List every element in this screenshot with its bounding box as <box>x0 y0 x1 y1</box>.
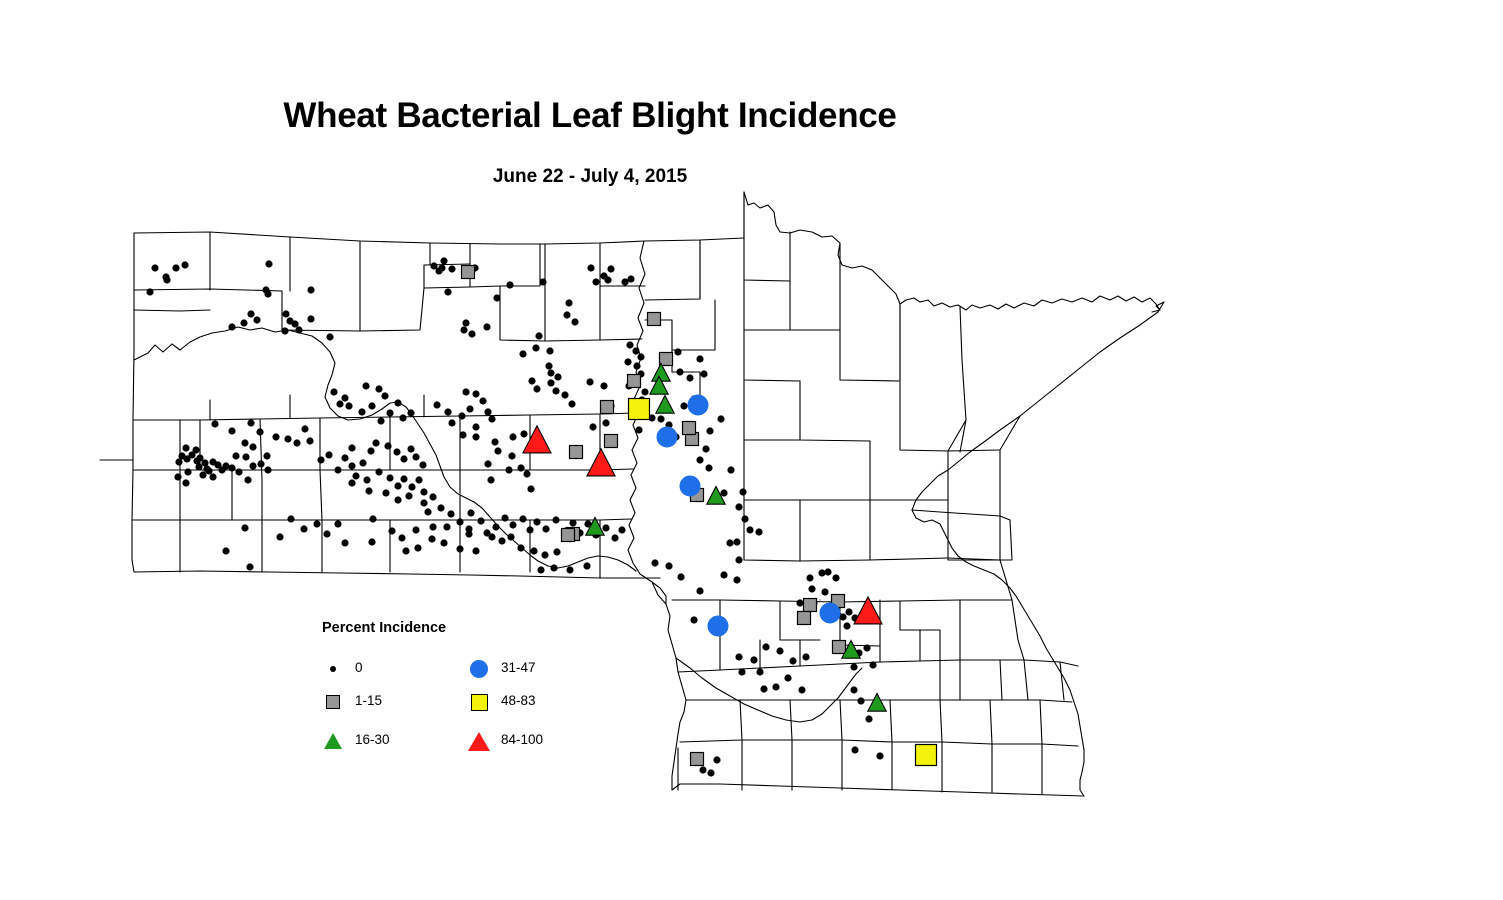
incidence-marker-0[interactable] <box>563 311 570 318</box>
incidence-marker-0[interactable] <box>517 464 524 471</box>
incidence-marker-1-15[interactable] <box>601 401 614 414</box>
incidence-marker-0[interactable] <box>720 489 727 496</box>
incidence-marker-0[interactable] <box>228 323 235 330</box>
incidence-marker-0[interactable] <box>182 479 189 486</box>
incidence-marker-0[interactable] <box>541 551 548 558</box>
incidence-marker-0[interactable] <box>735 556 742 563</box>
incidence-marker-0[interactable] <box>377 417 384 424</box>
incidence-marker-0[interactable] <box>232 452 239 459</box>
incidence-marker-0[interactable] <box>444 408 451 415</box>
incidence-marker-0[interactable] <box>674 348 681 355</box>
incidence-marker-0[interactable] <box>857 697 864 704</box>
incidence-marker-84-100[interactable] <box>523 426 551 453</box>
incidence-marker-0[interactable] <box>323 530 330 537</box>
incidence-marker-0[interactable] <box>501 514 508 521</box>
incidence-marker-0[interactable] <box>798 686 805 693</box>
incidence-marker-0[interactable] <box>796 599 803 606</box>
incidence-marker-0[interactable] <box>552 387 559 394</box>
incidence-marker-0[interactable] <box>494 447 501 454</box>
incidence-marker-0[interactable] <box>326 333 333 340</box>
incidence-marker-0[interactable] <box>447 510 454 517</box>
incidence-marker-0[interactable] <box>420 499 427 506</box>
incidence-marker-0[interactable] <box>565 299 572 306</box>
incidence-marker-1-15[interactable] <box>462 266 475 279</box>
incidence-marker-0[interactable] <box>264 466 271 473</box>
incidence-marker-0[interactable] <box>561 391 568 398</box>
incidence-marker-0[interactable] <box>756 668 763 675</box>
incidence-marker-0[interactable] <box>519 350 526 357</box>
incidence-marker-0[interactable] <box>358 408 365 415</box>
incidence-marker-0[interactable] <box>733 576 740 583</box>
incidence-marker-0[interactable] <box>287 515 294 522</box>
incidence-marker-0[interactable] <box>507 533 514 540</box>
incidence-marker-0[interactable] <box>334 520 341 527</box>
incidence-marker-0[interactable] <box>472 433 479 440</box>
incidence-marker-0[interactable] <box>402 547 409 554</box>
incidence-marker-0[interactable] <box>850 686 857 693</box>
incidence-marker-0[interactable] <box>272 433 279 440</box>
incidence-marker-0[interactable] <box>400 475 407 482</box>
incidence-marker-0[interactable] <box>341 539 348 546</box>
incidence-marker-1-15[interactable] <box>691 753 704 766</box>
incidence-marker-0[interactable] <box>300 525 307 532</box>
incidence-marker-0[interactable] <box>440 257 447 264</box>
incidence-marker-0[interactable] <box>462 319 469 326</box>
incidence-marker-0[interactable] <box>348 462 355 469</box>
incidence-marker-0[interactable] <box>472 547 479 554</box>
incidence-marker-0[interactable] <box>369 515 376 522</box>
incidence-marker-0[interactable] <box>509 521 516 528</box>
incidence-marker-0[interactable] <box>282 310 289 317</box>
incidence-marker-0[interactable] <box>741 515 748 522</box>
incidence-marker-0[interactable] <box>172 264 179 271</box>
incidence-marker-0[interactable] <box>477 517 484 524</box>
incidence-marker-0[interactable] <box>458 412 465 419</box>
incidence-marker-0[interactable] <box>456 518 463 525</box>
incidence-marker-0[interactable] <box>408 483 415 490</box>
incidence-marker-0[interactable] <box>592 278 599 285</box>
incidence-marker-0[interactable] <box>405 492 412 499</box>
incidence-marker-0[interactable] <box>181 261 188 268</box>
incidence-marker-0[interactable] <box>249 462 256 469</box>
incidence-marker-0[interactable] <box>532 344 539 351</box>
incidence-marker-31-47[interactable] <box>820 603 840 623</box>
incidence-marker-0[interactable] <box>492 523 499 530</box>
incidence-marker-48-83[interactable] <box>916 745 937 766</box>
incidence-marker-1-15[interactable] <box>570 446 583 459</box>
incidence-marker-0[interactable] <box>182 444 189 451</box>
incidence-marker-0[interactable] <box>505 466 512 473</box>
incidence-marker-0[interactable] <box>611 534 618 541</box>
incidence-marker-0[interactable] <box>637 353 644 360</box>
incidence-marker-1-15[interactable] <box>605 435 618 448</box>
incidence-marker-0[interactable] <box>367 447 374 454</box>
incidence-marker-0[interactable] <box>700 370 707 377</box>
incidence-marker-0[interactable] <box>550 564 557 571</box>
incidence-marker-0[interactable] <box>412 526 419 533</box>
incidence-marker-0[interactable] <box>398 534 405 541</box>
incidence-marker-0[interactable] <box>696 355 703 362</box>
incidence-marker-0[interactable] <box>821 588 828 595</box>
incidence-marker-0[interactable] <box>641 388 648 395</box>
incidence-marker-0[interactable] <box>589 423 596 430</box>
incidence-marker-0[interactable] <box>733 538 740 545</box>
incidence-marker-0[interactable] <box>394 496 401 503</box>
incidence-marker-31-47[interactable] <box>680 476 700 496</box>
incidence-marker-0[interactable] <box>539 278 546 285</box>
incidence-marker-0[interactable] <box>407 445 414 452</box>
incidence-marker-0[interactable] <box>604 276 611 283</box>
incidence-marker-1-15[interactable] <box>833 641 846 654</box>
incidence-marker-0[interactable] <box>772 683 779 690</box>
map-canvas[interactable] <box>0 0 1503 900</box>
incidence-marker-0[interactable] <box>552 516 559 523</box>
incidence-marker-0[interactable] <box>832 574 839 581</box>
incidence-marker-0[interactable] <box>240 319 247 326</box>
incidence-marker-1-15[interactable] <box>804 599 817 612</box>
incidence-marker-0[interactable] <box>818 569 825 576</box>
incidence-marker-0[interactable] <box>459 431 466 438</box>
incidence-marker-0[interactable] <box>368 538 375 545</box>
incidence-marker-0[interactable] <box>276 533 283 540</box>
incidence-marker-0[interactable] <box>713 756 720 763</box>
incidence-marker-0[interactable] <box>467 509 474 516</box>
incidence-marker-0[interactable] <box>863 644 870 651</box>
incidence-marker-0[interactable] <box>632 347 639 354</box>
incidence-marker-0[interactable] <box>545 362 552 369</box>
incidence-marker-0[interactable] <box>433 401 440 408</box>
incidence-marker-0[interactable] <box>246 563 253 570</box>
incidence-marker-0[interactable] <box>583 562 590 569</box>
incidence-marker-0[interactable] <box>527 485 534 492</box>
incidence-marker-0[interactable] <box>533 385 540 392</box>
incidence-marker-0[interactable] <box>546 347 553 354</box>
incidence-marker-0[interactable] <box>707 769 714 776</box>
incidence-marker-0[interactable] <box>372 439 379 446</box>
incidence-marker-0[interactable] <box>802 653 809 660</box>
incidence-marker-0[interactable] <box>750 656 757 663</box>
incidence-marker-0[interactable] <box>444 288 451 295</box>
incidence-marker-0[interactable] <box>587 264 594 271</box>
incidence-marker-0[interactable] <box>526 526 533 533</box>
incidence-marker-0[interactable] <box>448 265 455 272</box>
incidence-marker-0[interactable] <box>222 547 229 554</box>
incidence-marker-0[interactable] <box>241 439 248 446</box>
incidence-marker-0[interactable] <box>530 547 537 554</box>
incidence-marker-0[interactable] <box>568 400 575 407</box>
incidence-marker-0[interactable] <box>553 548 560 555</box>
incidence-marker-0[interactable] <box>789 657 796 664</box>
incidence-marker-0[interactable] <box>352 472 359 479</box>
incidence-marker-0[interactable] <box>146 288 153 295</box>
incidence-marker-0[interactable] <box>618 526 625 533</box>
incidence-marker-0[interactable] <box>151 264 158 271</box>
incidence-marker-0[interactable] <box>845 608 852 615</box>
incidence-marker-0[interactable] <box>415 476 422 483</box>
incidence-marker-0[interactable] <box>484 408 491 415</box>
incidence-marker-0[interactable] <box>199 471 206 478</box>
incidence-marker-0[interactable] <box>509 433 516 440</box>
incidence-marker-0[interactable] <box>399 414 406 421</box>
incidence-marker-0[interactable] <box>429 493 436 500</box>
incidence-marker-0[interactable] <box>690 616 697 623</box>
incidence-marker-0[interactable] <box>460 326 467 333</box>
incidence-marker-0[interactable] <box>336 400 343 407</box>
incidence-marker-0[interactable] <box>869 661 876 668</box>
incidence-marker-0[interactable] <box>523 470 530 477</box>
incidence-marker-0[interactable] <box>784 674 791 681</box>
incidence-marker-0[interactable] <box>702 445 709 452</box>
incidence-marker-0[interactable] <box>876 752 883 759</box>
incidence-marker-0[interactable] <box>334 466 341 473</box>
incidence-marker-0[interactable] <box>443 523 450 530</box>
incidence-marker-0[interactable] <box>307 315 314 322</box>
incidence-marker-0[interactable] <box>677 573 684 580</box>
incidence-marker-0[interactable] <box>519 515 526 522</box>
incidence-marker-0[interactable] <box>295 326 302 333</box>
incidence-marker-0[interactable] <box>806 574 813 581</box>
incidence-marker-0[interactable] <box>520 430 527 437</box>
incidence-marker-0[interactable] <box>850 663 857 670</box>
incidence-marker-0[interactable] <box>717 415 724 422</box>
incidence-marker-31-47[interactable] <box>657 427 677 447</box>
incidence-marker-0[interactable] <box>680 402 687 409</box>
incidence-marker-0[interactable] <box>330 388 337 395</box>
incidence-marker-0[interactable] <box>755 528 762 535</box>
incidence-marker-1-15[interactable] <box>562 529 575 542</box>
incidence-marker-31-47[interactable] <box>688 395 708 415</box>
incidence-marker-0[interactable] <box>257 460 264 467</box>
incidence-marker-0[interactable] <box>437 504 444 511</box>
incidence-marker-0[interactable] <box>375 468 382 475</box>
incidence-marker-0[interactable] <box>184 468 191 475</box>
incidence-marker-0[interactable] <box>506 281 513 288</box>
incidence-marker-84-100[interactable] <box>587 449 615 476</box>
incidence-marker-0[interactable] <box>746 526 753 533</box>
incidence-marker-0[interactable] <box>388 527 395 534</box>
incidence-marker-0[interactable] <box>247 310 254 317</box>
incidence-marker-0[interactable] <box>306 437 313 444</box>
incidence-marker-0[interactable] <box>491 438 498 445</box>
incidence-marker-48-83[interactable] <box>629 399 650 420</box>
incidence-marker-0[interactable] <box>865 715 872 722</box>
incidence-marker-0[interactable] <box>686 374 693 381</box>
incidence-marker-0[interactable] <box>633 362 640 369</box>
incidence-marker-0[interactable] <box>547 379 554 386</box>
incidence-marker-0[interactable] <box>696 456 703 463</box>
incidence-marker-0[interactable] <box>665 562 672 569</box>
incidence-marker-1-15[interactable] <box>628 375 641 388</box>
incidence-marker-0[interactable] <box>602 419 609 426</box>
incidence-marker-0[interactable] <box>428 535 435 542</box>
incidence-marker-0[interactable] <box>244 476 251 483</box>
incidence-marker-0[interactable] <box>393 448 400 455</box>
incidence-marker-0[interactable] <box>571 318 578 325</box>
incidence-marker-0[interactable] <box>824 568 831 575</box>
incidence-marker-0[interactable] <box>586 378 593 385</box>
incidence-marker-0[interactable] <box>228 464 235 471</box>
incidence-marker-0[interactable] <box>394 482 401 489</box>
incidence-marker-0[interactable] <box>313 520 320 527</box>
incidence-marker-0[interactable] <box>242 453 249 460</box>
incidence-marker-0[interactable] <box>400 455 407 462</box>
incidence-marker-0[interactable] <box>430 262 437 269</box>
incidence-marker-0[interactable] <box>348 444 355 451</box>
incidence-marker-0[interactable] <box>468 330 475 337</box>
incidence-marker-16-30[interactable] <box>868 693 886 711</box>
incidence-marker-0[interactable] <box>466 405 473 412</box>
incidence-marker-0[interactable] <box>407 409 414 416</box>
incidence-marker-0[interactable] <box>542 525 549 532</box>
incidence-marker-0[interactable] <box>720 571 727 578</box>
incidence-marker-0[interactable] <box>472 423 479 430</box>
incidence-marker-0[interactable] <box>533 518 540 525</box>
incidence-marker-0[interactable] <box>241 524 248 531</box>
incidence-marker-31-47[interactable] <box>708 616 728 636</box>
incidence-marker-0[interactable] <box>205 467 212 474</box>
incidence-marker-0[interactable] <box>429 523 436 530</box>
incidence-marker-0[interactable] <box>727 466 734 473</box>
incidence-marker-0[interactable] <box>341 394 348 401</box>
incidence-marker-0[interactable] <box>483 323 490 330</box>
incidence-marker-0[interactable] <box>362 382 369 389</box>
incidence-marker-0[interactable] <box>517 544 524 551</box>
incidence-marker-0[interactable] <box>228 427 235 434</box>
incidence-marker-0[interactable] <box>174 473 181 480</box>
incidence-marker-0[interactable] <box>414 544 421 551</box>
incidence-marker-0[interactable] <box>341 454 348 461</box>
incidence-marker-0[interactable] <box>211 420 218 427</box>
incidence-marker-0[interactable] <box>365 487 372 494</box>
incidence-marker-0[interactable] <box>195 463 202 470</box>
incidence-marker-0[interactable] <box>163 276 170 283</box>
incidence-marker-0[interactable] <box>726 539 733 546</box>
incidence-marker-0[interactable] <box>384 442 391 449</box>
incidence-marker-0[interactable] <box>839 613 846 620</box>
incidence-marker-0[interactable] <box>307 286 314 293</box>
incidence-marker-0[interactable] <box>253 316 260 323</box>
incidence-marker-0[interactable] <box>264 290 271 297</box>
incidence-marker-0[interactable] <box>696 587 703 594</box>
incidence-marker-0[interactable] <box>635 426 642 433</box>
incidence-marker-0[interactable] <box>493 294 500 301</box>
incidence-marker-0[interactable] <box>776 647 783 654</box>
incidence-marker-0[interactable] <box>676 368 683 375</box>
incidence-marker-1-15[interactable] <box>648 313 661 326</box>
incidence-marker-0[interactable] <box>175 458 182 465</box>
incidence-marker-0[interactable] <box>705 464 712 471</box>
incidence-marker-0[interactable] <box>419 461 426 468</box>
incidence-marker-0[interactable] <box>528 377 535 384</box>
incidence-marker-0[interactable] <box>624 358 631 365</box>
incidence-marker-0[interactable] <box>483 529 490 536</box>
incidence-marker-0[interactable] <box>602 524 609 531</box>
incidence-marker-0[interactable] <box>569 519 576 526</box>
incidence-marker-0[interactable] <box>739 488 746 495</box>
incidence-marker-16-30[interactable] <box>656 395 674 413</box>
incidence-marker-1-15[interactable] <box>683 422 696 435</box>
incidence-marker-0[interactable] <box>760 685 767 692</box>
incidence-marker-0[interactable] <box>325 451 332 458</box>
incidence-marker-0[interactable] <box>286 317 293 324</box>
incidence-marker-0[interactable] <box>301 425 308 432</box>
incidence-marker-0[interactable] <box>537 566 544 573</box>
incidence-marker-0[interactable] <box>607 265 614 272</box>
incidence-marker-0[interactable] <box>386 409 393 416</box>
incidence-marker-0[interactable] <box>381 392 388 399</box>
incidence-marker-0[interactable] <box>359 459 366 466</box>
incidence-marker-0[interactable] <box>456 545 463 552</box>
incidence-marker-0[interactable] <box>706 427 713 434</box>
incidence-marker-0[interactable] <box>386 474 393 481</box>
incidence-marker-0[interactable] <box>735 653 742 660</box>
incidence-marker-0[interactable] <box>412 453 419 460</box>
incidence-marker-0[interactable] <box>851 746 858 753</box>
incidence-marker-0[interactable] <box>281 327 288 334</box>
incidence-marker-0[interactable] <box>479 397 486 404</box>
incidence-marker-0[interactable] <box>263 452 270 459</box>
incidence-marker-0[interactable] <box>484 460 491 467</box>
incidence-marker-0[interactable] <box>465 525 472 532</box>
incidence-marker-0[interactable] <box>192 446 199 453</box>
incidence-marker-0[interactable] <box>547 369 554 376</box>
incidence-marker-0[interactable] <box>762 643 769 650</box>
incidence-marker-0[interactable] <box>424 508 431 515</box>
incidence-marker-0[interactable] <box>735 503 742 510</box>
incidence-marker-0[interactable] <box>600 382 607 389</box>
incidence-marker-0[interactable] <box>348 479 355 486</box>
incidence-marker-0[interactable] <box>843 622 850 629</box>
incidence-marker-1-15[interactable] <box>798 612 811 625</box>
incidence-marker-0[interactable] <box>265 260 272 267</box>
incidence-marker-0[interactable] <box>498 537 505 544</box>
incidence-marker-0[interactable] <box>249 443 256 450</box>
map-svg[interactable] <box>0 0 1503 900</box>
incidence-marker-0[interactable] <box>508 452 515 459</box>
incidence-marker-0[interactable] <box>247 419 254 426</box>
incidence-marker-0[interactable] <box>657 415 664 422</box>
incidence-marker-0[interactable] <box>699 766 706 773</box>
incidence-marker-0[interactable] <box>462 388 469 395</box>
incidence-marker-0[interactable] <box>440 539 447 546</box>
incidence-marker-0[interactable] <box>627 275 634 282</box>
incidence-marker-0[interactable] <box>256 428 263 435</box>
incidence-marker-0[interactable] <box>345 402 352 409</box>
incidence-marker-0[interactable] <box>808 585 815 592</box>
incidence-marker-0[interactable] <box>235 468 242 475</box>
incidence-marker-0[interactable] <box>363 476 370 483</box>
incidence-marker-0[interactable] <box>738 668 745 675</box>
incidence-marker-0[interactable] <box>317 456 324 463</box>
incidence-marker-16-30[interactable] <box>652 363 670 381</box>
incidence-marker-0[interactable] <box>293 439 300 446</box>
incidence-marker-0[interactable] <box>566 566 573 573</box>
incidence-marker-0[interactable] <box>209 473 216 480</box>
incidence-marker-0[interactable] <box>420 488 427 495</box>
incidence-marker-0[interactable] <box>651 559 658 566</box>
incidence-marker-0[interactable] <box>375 385 382 392</box>
incidence-marker-0[interactable] <box>626 341 633 348</box>
incidence-marker-0[interactable] <box>284 435 291 442</box>
incidence-marker-0[interactable] <box>487 476 494 483</box>
incidence-marker-0[interactable] <box>554 373 561 380</box>
incidence-marker-0[interactable] <box>448 419 455 426</box>
incidence-marker-0[interactable] <box>535 332 542 339</box>
incidence-marker-0[interactable] <box>488 415 495 422</box>
incidence-marker-0[interactable] <box>394 399 401 406</box>
incidence-marker-0[interactable] <box>382 489 389 496</box>
incidence-marker-0[interactable] <box>368 402 375 409</box>
